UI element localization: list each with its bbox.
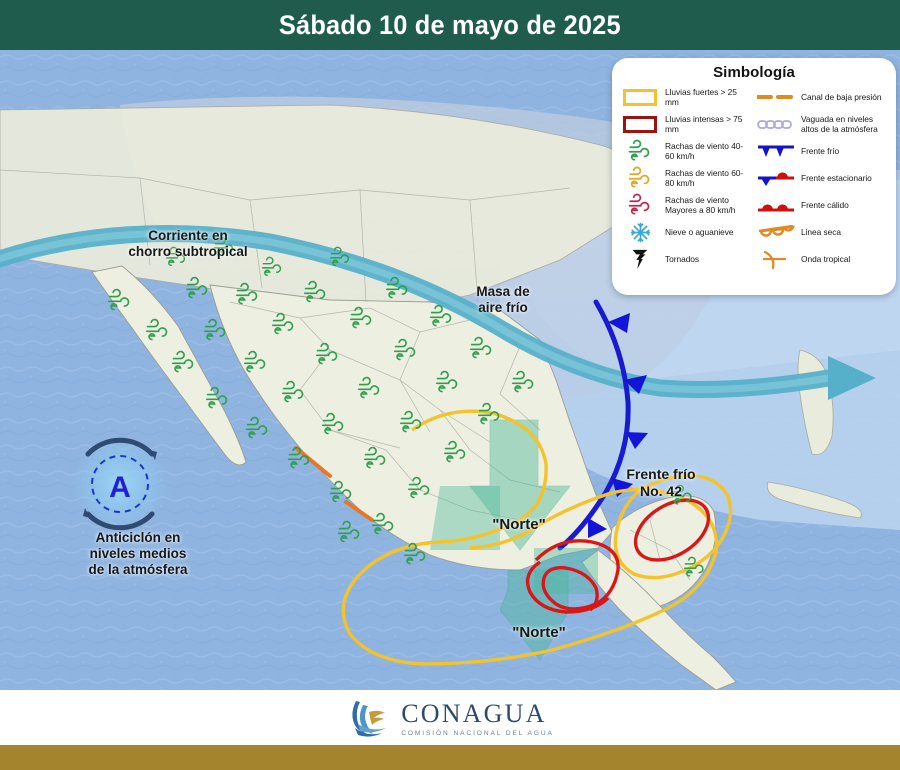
legend-item-frente-calido[interactable]: Frente cálido (756, 193, 888, 217)
wind-swirl-orange-icon (620, 166, 660, 190)
legend-label: Frente estacionario (801, 173, 872, 183)
legend-item-rachas-40-60[interactable]: Rachas de viento 40-60 km/h (620, 139, 752, 163)
legend-label: Onda tropical (801, 254, 850, 264)
legend-label: Rachas de viento 60-80 km/h (665, 168, 752, 189)
legend-item-rachas-80[interactable]: Rachas de viento Mayores a 80 km/h (620, 193, 752, 217)
anticyclone-symbol: A (72, 436, 168, 532)
legend-label: Linea seca (801, 227, 841, 237)
logo-subtitle: COMISIÓN NACIONAL DEL AGUA (401, 730, 554, 737)
legend-column-right: Canal de baja presión (756, 85, 888, 274)
legend-item-lluvias-intensas[interactable]: Lluvias intensas > 75 mm (620, 112, 752, 136)
yellow-rectangle-icon (620, 85, 660, 109)
legend-item-frente-estacionario[interactable]: Frente estacionario (756, 166, 888, 190)
legend-label: Lluvias intensas > 75 mm (665, 114, 752, 135)
legend-item-vaguada[interactable]: Vaguada en niveles altos de la atmósfera (756, 112, 888, 136)
legend-item-tornados[interactable]: Tornados (620, 247, 752, 271)
chain-link-icon (756, 112, 796, 136)
red-rectangle-icon (620, 112, 660, 136)
bottom-accent-bar (0, 745, 900, 770)
legend-item-canal-baja-presion[interactable]: Canal de baja presión (756, 85, 888, 109)
tornado-icon (620, 247, 660, 271)
dashed-line-icon (756, 85, 796, 109)
page-header: Sábado 10 de mayo de 2025 (0, 0, 900, 50)
wind-swirl-red-icon (620, 193, 660, 217)
legend-item-linea-seca[interactable]: Linea seca (756, 220, 888, 244)
warm-front-icon (756, 193, 796, 217)
legend-label: Tornados (665, 254, 699, 264)
snowflake-icon (620, 220, 660, 244)
label-anticyclone: Anticiclón en niveles medios de la atmós… (38, 530, 238, 578)
legend-item-lluvias-fuertes[interactable]: Lluvias fuertes > 25 mm (620, 85, 752, 109)
legend-panel: Simbología Lluvias fuertes > 25 mm (612, 58, 896, 295)
conagua-eagle-water-icon (346, 697, 392, 739)
legend-label: Frente cálido (801, 200, 849, 210)
legend-column-left: Lluvias fuertes > 25 mm Lluvias intensas… (620, 85, 752, 274)
legend-label: Rachas de viento Mayores a 80 km/h (665, 195, 752, 216)
weather-map[interactable]: A (0, 50, 900, 690)
legend-title: Simbología (620, 64, 888, 81)
label-jet-stream: Corriente en chorro subtropical (78, 228, 298, 260)
label-norte-north: "Norte" (474, 516, 564, 534)
logo-name: CONAGUA (401, 699, 554, 729)
legend-item-nieve[interactable]: Nieve o aguanieve (620, 220, 752, 244)
page-footer: CONAGUA COMISIÓN NACIONAL DEL AGUA (0, 690, 900, 745)
legend-item-rachas-60-80[interactable]: Rachas de viento 60-80 km/h (620, 166, 752, 190)
page-title: Sábado 10 de mayo de 2025 (279, 10, 621, 41)
stationary-front-icon (756, 166, 796, 190)
svg-text:A: A (109, 471, 131, 504)
legend-label: Lluvias fuertes > 25 mm (665, 87, 752, 108)
legend-item-onda-tropical[interactable]: Onda tropical (756, 247, 888, 271)
legend-label: Nieve o aguanieve (665, 227, 734, 237)
tropical-wave-icon (756, 247, 796, 271)
label-cold-front-42: Frente frío No. 42 (596, 466, 726, 499)
weather-map-page: Sábado 10 de mayo de 2025 (0, 0, 900, 770)
conagua-logo: CONAGUA COMISIÓN NACIONAL DEL AGUA (346, 697, 554, 739)
wind-swirl-green-icon (620, 139, 660, 163)
legend-item-frente-frio[interactable]: Frente frío (756, 139, 888, 163)
legend-label: Vaguada en niveles altos de la atmósfera (801, 114, 888, 135)
legend-label: Frente frío (801, 146, 839, 156)
dry-line-icon (756, 220, 796, 244)
label-cold-air-mass: Masa de aire frío (448, 284, 558, 316)
cold-front-icon (756, 139, 796, 163)
legend-label: Canal de baja presión (801, 92, 881, 102)
label-norte-south: "Norte" (494, 624, 584, 642)
legend-label: Rachas de viento 40-60 km/h (665, 141, 752, 162)
